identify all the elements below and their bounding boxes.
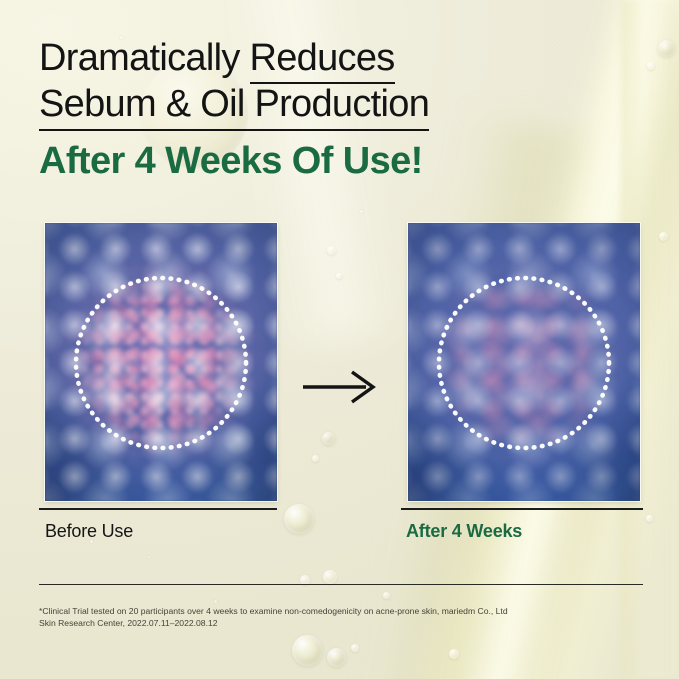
- before-caption: Before Use: [45, 521, 133, 542]
- footnote-divider: [39, 584, 643, 585]
- after-caption: After 4 Weeks: [406, 521, 522, 542]
- measurement-circle-after: [436, 275, 612, 451]
- promo-panel: Dramatically Reduces Sebum & Oil Product…: [0, 0, 679, 679]
- before-photo: [45, 223, 277, 501]
- measurement-circle-before: [73, 275, 249, 451]
- caption-divider-after: [401, 508, 643, 510]
- footnote-line-1: *Clinical Trial tested on 20 participant…: [39, 605, 619, 617]
- caption-divider-before: [39, 508, 277, 510]
- footnote-line-2: Skin Research Center, 2022.07.11–2022.08…: [39, 617, 619, 629]
- comparison-section: Before Use After 4 Weeks: [0, 0, 679, 679]
- footnote-block: *Clinical Trial tested on 20 participant…: [39, 605, 619, 629]
- arrow-right-icon: [302, 370, 378, 404]
- after-photo: [408, 223, 640, 501]
